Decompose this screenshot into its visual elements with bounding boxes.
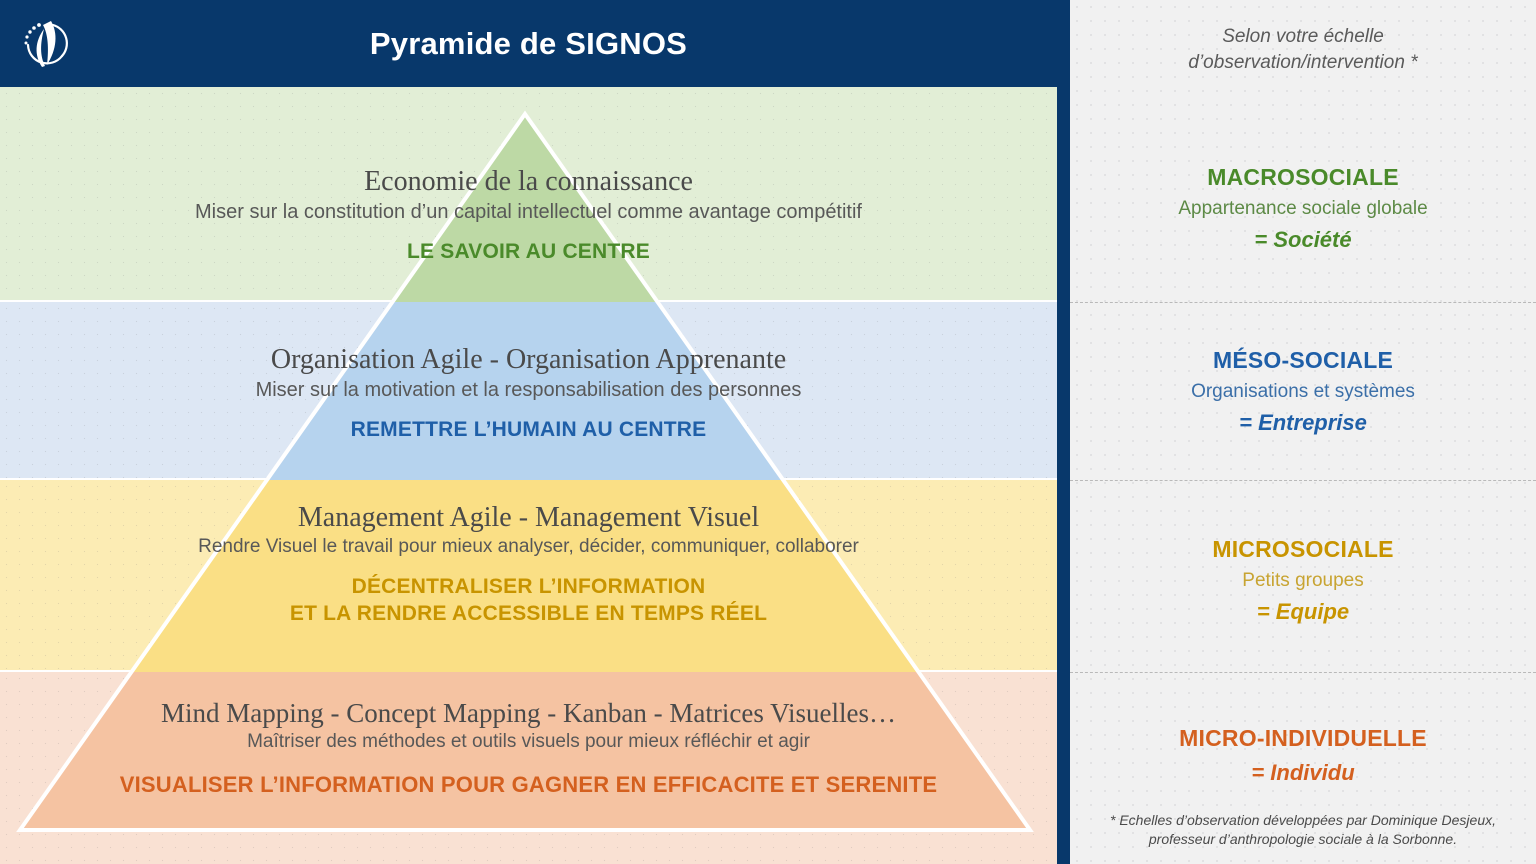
tier-title: Organisation Agile - Organisation Appren… xyxy=(30,344,1027,375)
scales-header-line2: d’observation/intervention * xyxy=(1094,50,1512,76)
scale-title: MICRO-INDIVIDUELLE xyxy=(1084,725,1522,753)
scale-equals: = Société xyxy=(1084,226,1522,254)
scale-subtitle: Petits groupes xyxy=(1084,569,1522,593)
tier-text-meso: Organisation Agile - Organisation Appren… xyxy=(0,344,1057,443)
scale-title: MÉSO-SOCIALE xyxy=(1084,347,1522,375)
scales-header-line1: Selon votre échelle xyxy=(1094,24,1512,50)
tier-tagline: DÉCENTRALISER L’INFORMATION xyxy=(30,575,1027,600)
scale-subtitle: Organisations et systèmes xyxy=(1084,380,1522,404)
scales-panel: Selon votre échelle d’observation/interv… xyxy=(1070,0,1536,864)
page-title: Pyramide de SIGNOS xyxy=(92,26,1057,62)
tier-subtitle: Rendre Visuel le travail pour mieux anal… xyxy=(30,536,1027,559)
header-bar: Pyramide de SIGNOS xyxy=(0,0,1057,87)
tier-subtitle: Miser sur la motivation et la responsabi… xyxy=(30,378,1027,402)
infographic-root: Pyramide de SIGNOS Economie de la connai… xyxy=(0,0,1536,864)
scale-equals: = Entreprise xyxy=(1084,409,1522,437)
tier-title: Economie de la connaissance xyxy=(30,166,1027,197)
tier-subtitle: Maîtriser des méthodes et outils visuels… xyxy=(30,731,1027,754)
scales-panel-header: Selon votre échelle d’observation/interv… xyxy=(1070,24,1536,75)
band-separator xyxy=(0,300,1057,302)
scale-equals: = Individu xyxy=(1084,759,1522,787)
scale-item-macrosociale: MACROSOCIALE Appartenance sociale global… xyxy=(1070,164,1536,254)
scale-equals: = Equipe xyxy=(1084,598,1522,626)
pyramid-panel: Pyramide de SIGNOS Economie de la connai… xyxy=(0,0,1057,864)
tier-tagline: LE SAVOIR AU CENTRE xyxy=(30,240,1027,265)
tier-text-micro: Management Agile - Management Visuel Ren… xyxy=(0,502,1057,627)
scale-item-microsociale: MICROSOCIALE Petits groupes = Equipe xyxy=(1070,536,1536,626)
scale-separator xyxy=(1070,302,1536,303)
band-separator xyxy=(0,478,1057,480)
tier-subtitle: Miser sur la constitution d’un capital i… xyxy=(30,200,1027,224)
tier-title: Management Agile - Management Visuel xyxy=(30,502,1027,533)
tier-tagline: VISUALISER L’INFORMATION POUR GAGNER EN … xyxy=(30,772,1027,798)
tier-text-macro: Economie de la connaissance Miser sur la… xyxy=(0,166,1057,265)
footnote-line2: professeur d’anthropologie sociale à la … xyxy=(1088,830,1518,850)
scale-title: MACROSOCIALE xyxy=(1084,164,1522,192)
band-separator xyxy=(0,670,1057,672)
tier-tagline-line2: ET LA RENDRE ACCESSIBLE EN TEMPS RÉEL xyxy=(30,602,1027,627)
footnote: * Echelles d’observation développées par… xyxy=(1070,811,1536,850)
tier-title: Mind Mapping - Concept Mapping - Kanban … xyxy=(30,698,1027,728)
scale-title: MICROSOCIALE xyxy=(1084,536,1522,564)
scale-item-mesosociale: MÉSO-SOCIALE Organisations et systèmes =… xyxy=(1070,347,1536,437)
tier-tagline: REMETTRE L’HUMAIN AU CENTRE xyxy=(30,418,1027,443)
scale-subtitle: Appartenance sociale globale xyxy=(1084,197,1522,221)
scale-item-micro-individuelle: MICRO-INDIVIDUELLE = Individu xyxy=(1070,725,1536,786)
signos-leaf-logo-icon xyxy=(0,0,92,87)
scale-separator xyxy=(1070,672,1536,673)
scale-separator xyxy=(1070,480,1536,481)
vertical-divider xyxy=(1057,0,1070,864)
footnote-line1: * Echelles d’observation développées par… xyxy=(1088,811,1518,831)
tier-text-individuelle: Mind Mapping - Concept Mapping - Kanban … xyxy=(0,698,1057,798)
